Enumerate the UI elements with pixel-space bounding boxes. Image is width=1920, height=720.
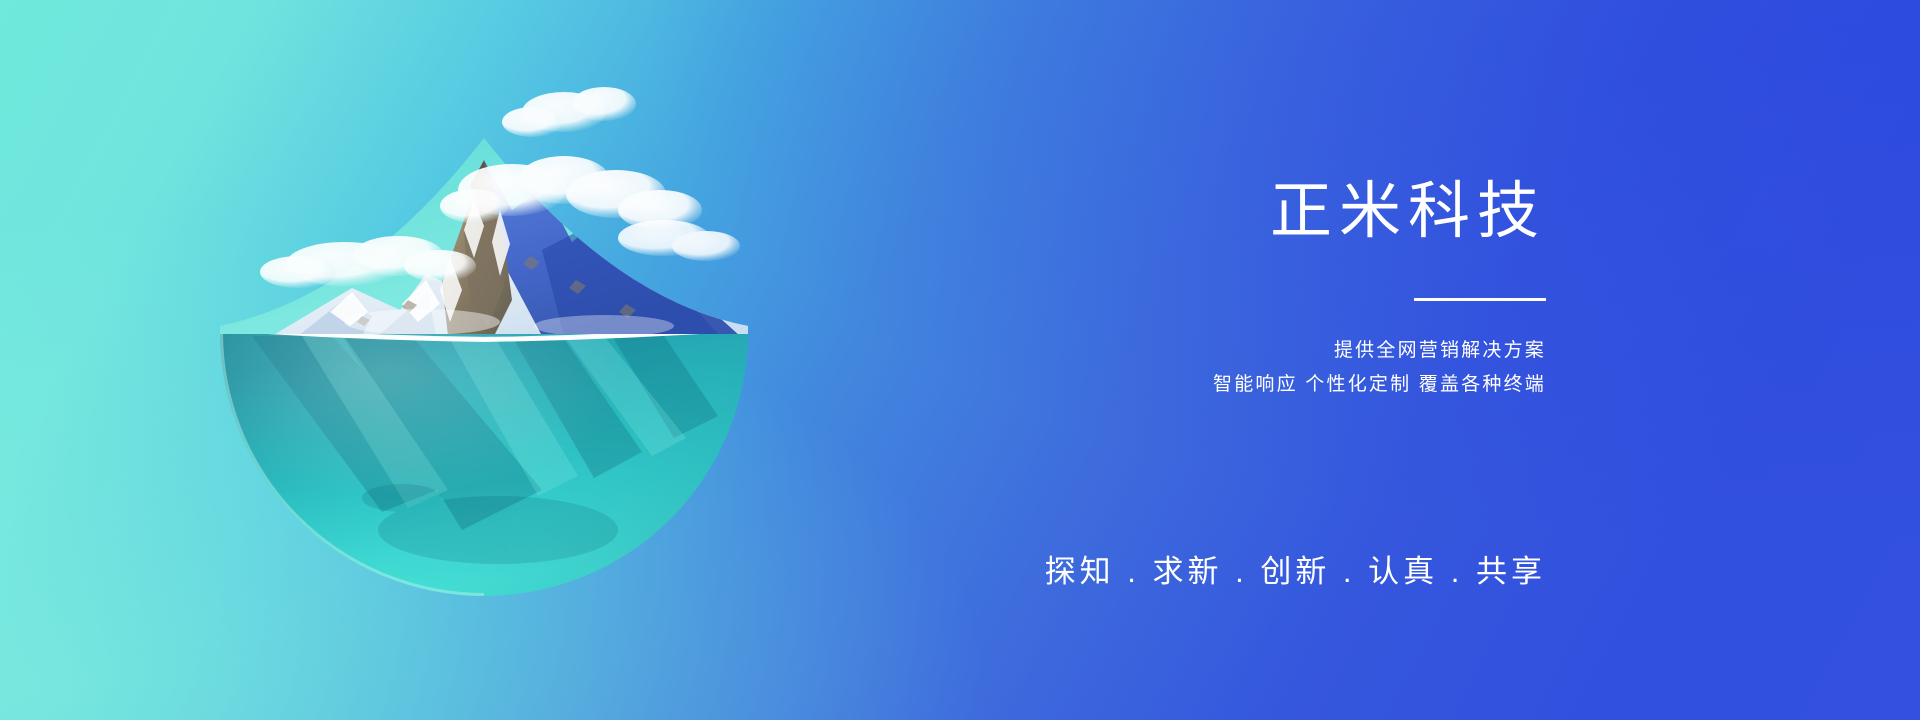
subtitle-line-2: 智能响应 个性化定制 覆盖各种终端 <box>786 368 1546 402</box>
hero-copy-block: 正米科技 提供全网营销解决方案 智能响应 个性化定制 覆盖各种终端 <box>786 180 1546 402</box>
title-divider-wrap <box>786 290 1546 308</box>
cloud-cluster-upper-right <box>502 87 636 137</box>
hero-banner: 正米科技 提供全网营销解决方案 智能响应 个性化定制 覆盖各种终端 探知 . 求… <box>0 0 1920 720</box>
page-title: 正米科技 <box>786 180 1546 243</box>
tagline: 探知 . 求新 . 创新 . 认真 . 共享 <box>786 552 1546 592</box>
cloud-cluster-right <box>618 220 740 261</box>
subtitle-group: 提供全网营销解决方案 智能响应 个性化定制 覆盖各种终端 <box>786 334 1546 402</box>
subtitle-line-1: 提供全网营销解决方案 <box>786 334 1546 368</box>
floating-island-illustration <box>212 60 756 560</box>
title-divider <box>1414 298 1546 301</box>
ocean-dome <box>212 320 756 600</box>
